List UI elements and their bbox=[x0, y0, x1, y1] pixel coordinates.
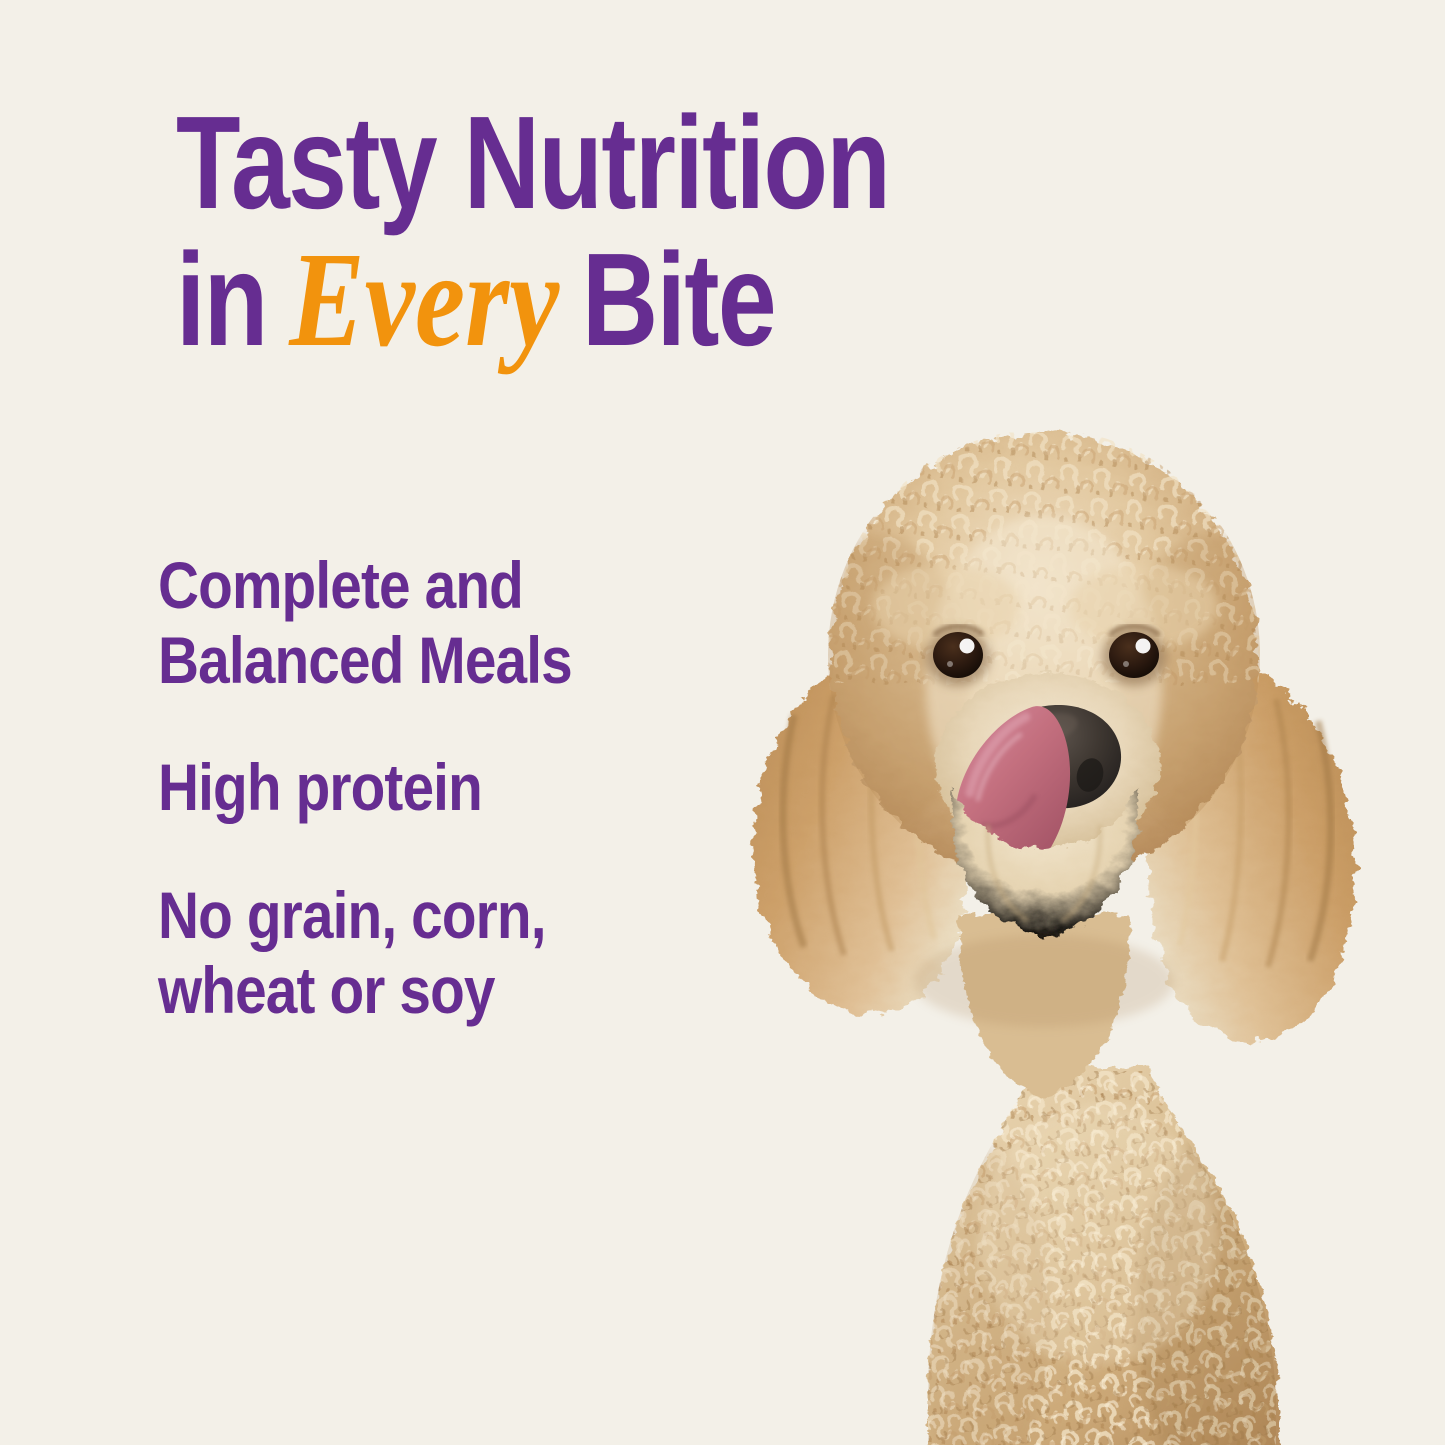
page-title: Tasty Nutrition in Every Bite bbox=[176, 96, 1072, 369]
dog-illustration bbox=[628, 355, 1445, 1445]
headline-line-2-suffix: Bite bbox=[554, 226, 775, 373]
benefit-item-complete-balanced-meals: Complete and Balanced Meals bbox=[158, 548, 691, 698]
dog-photo bbox=[628, 355, 1445, 1445]
dog-body bbox=[908, 1045, 1338, 1445]
advertisement-banner: Tasty Nutrition in Every Bite Complete a… bbox=[0, 0, 1445, 1445]
dog-eye-right bbox=[1102, 626, 1166, 686]
benefit-item-high-protein: High protein bbox=[158, 750, 691, 825]
headline-line-2: in Every Bite bbox=[176, 231, 1072, 370]
headline-emphasis-every: Every bbox=[289, 231, 559, 370]
dog-eye-left bbox=[926, 626, 990, 686]
headline-line-1: Tasty Nutrition bbox=[176, 96, 1072, 231]
benefit-item-no-grain-corn-wheat-soy: No grain, corn, wheat or soy bbox=[158, 878, 691, 1028]
headline-line-2-prefix: in bbox=[176, 226, 294, 373]
chin-shadow bbox=[914, 935, 1174, 1027]
